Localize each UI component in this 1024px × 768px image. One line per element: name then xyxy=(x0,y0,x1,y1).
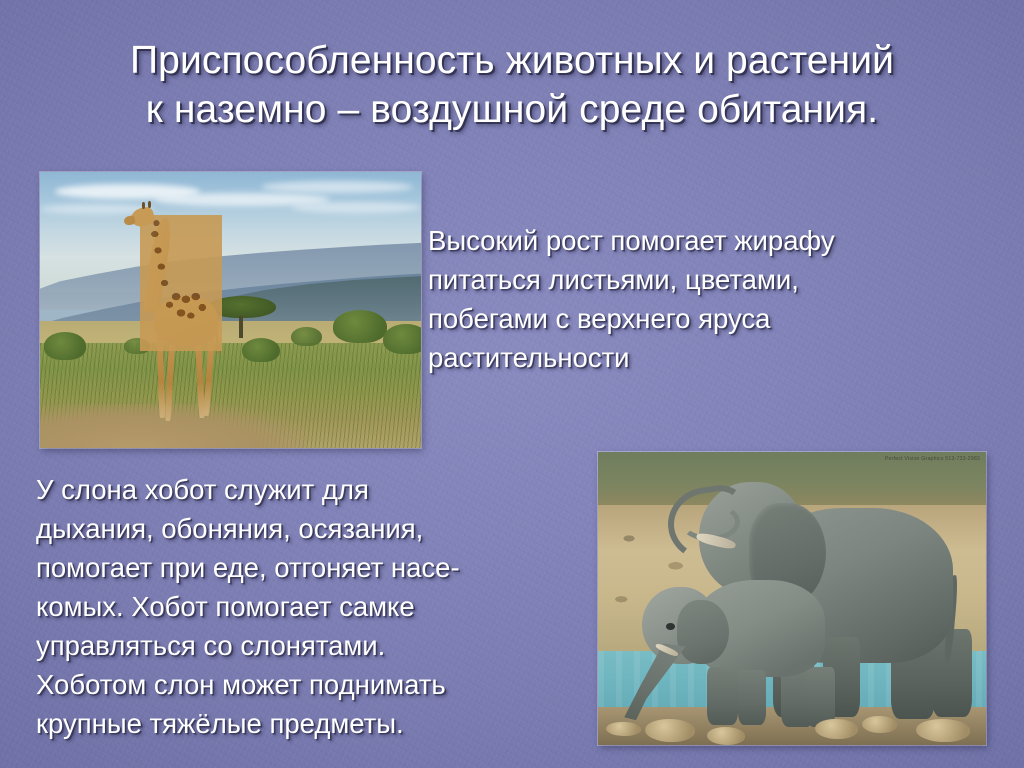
elephant-description-text: У слона хобот служит для дыхания, обонян… xyxy=(36,470,581,743)
giraffe-ossicone xyxy=(142,202,145,209)
title-line-2: к наземно – воздушной среде обитания. xyxy=(0,85,1024,134)
elephant-text-line-2: дыхания, обоняния, осязания, xyxy=(36,509,581,548)
presentation-slide: Приспособленность животных и растений к … xyxy=(0,0,1024,768)
elephant-text-line-6: Хоботом слон может поднимать xyxy=(36,665,581,704)
calf-elephant-figure xyxy=(629,563,846,730)
acacia-tree-trunk xyxy=(239,316,243,338)
giraffe-description-text: Высокий рост помогает жирафу питаться ли… xyxy=(428,221,988,377)
calf-eye xyxy=(666,623,675,630)
giraffe-savanna-photo xyxy=(40,172,421,448)
rock-shape xyxy=(916,719,970,742)
photo-watermark: Perfect Vision Graphics 513-733-2983 xyxy=(885,456,980,463)
calf-leg xyxy=(807,667,835,727)
elephant-text-line-3: помогает при еде, отгоняет насе- xyxy=(36,548,581,587)
giraffe-ossicone xyxy=(148,201,151,208)
elephant-text-line-4: комых. Хобот помогает самке xyxy=(36,587,581,626)
cloud-icon xyxy=(291,202,421,213)
bush-shape xyxy=(383,324,421,354)
calf-leg xyxy=(707,667,737,725)
calf-ear xyxy=(677,600,729,663)
rock-shape xyxy=(862,716,897,734)
bush-shape xyxy=(291,327,321,346)
elephant-text-line-1: У слона хобот служит для xyxy=(36,470,581,509)
giraffe-spot-pattern xyxy=(140,215,222,351)
page-title: Приспособленность животных и растений к … xyxy=(0,36,1024,134)
rock-shape xyxy=(815,719,858,740)
elephant-text-line-7: крупные тяжёлые предметы. xyxy=(36,704,581,743)
giraffe-figure xyxy=(124,197,238,423)
elephant-text-line-5: управляться со слонятами. xyxy=(36,626,581,665)
bush-shape xyxy=(242,338,280,363)
giraffe-text-line-3: побегами с верхнего яруса xyxy=(428,299,988,338)
giraffe-text-line-4: растительности xyxy=(428,338,988,377)
calf-leg xyxy=(738,670,766,725)
elephants-waterhole-photo: Perfect Vision Graphics 513-733-2983 xyxy=(598,452,986,745)
bush-shape xyxy=(333,310,386,343)
giraffe-text-line-1: Высокий рост помогает жирафу xyxy=(428,221,988,260)
giraffe-text-line-2: питаться листьями, цветами, xyxy=(428,260,988,299)
cloud-icon xyxy=(261,181,413,193)
title-line-1: Приспособленность животных и растений xyxy=(0,36,1024,85)
bush-shape xyxy=(44,332,86,360)
